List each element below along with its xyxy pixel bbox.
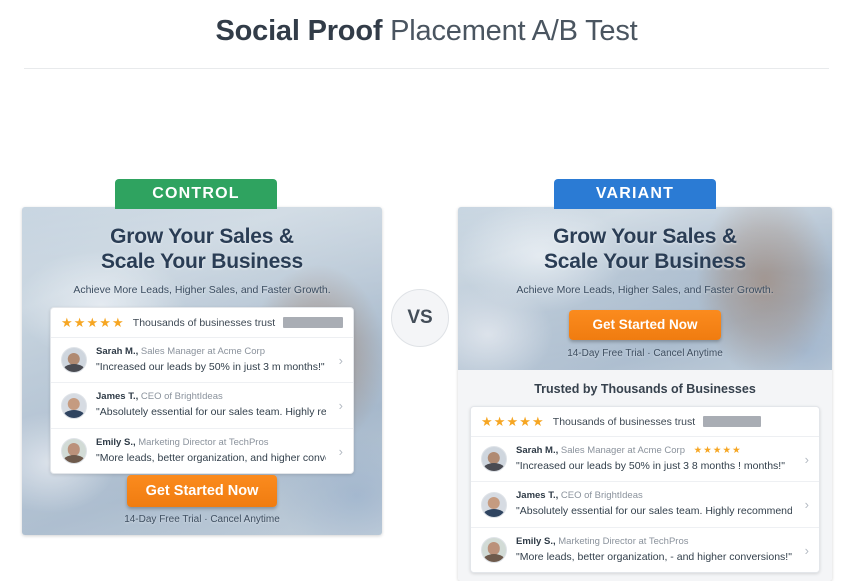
control-social-proof-header: ★★★★★ Thousands of businesses trust: [51, 308, 353, 338]
testimonial-name: James T.,: [516, 490, 558, 501]
chevron-right-icon[interactable]: ›: [335, 399, 343, 412]
testimonial-name: Sarah M.,: [516, 445, 558, 456]
variant-social-proof-section: Trusted by Thousands of Businesses ★★★★★…: [458, 370, 832, 581]
testimonial-quote: "More leads, better organization, and hi…: [96, 452, 326, 466]
testimonial-role: Sales Manager at Acme Corp: [561, 445, 685, 456]
chevron-right-icon[interactable]: ›: [801, 453, 809, 466]
table-row[interactable]: Emily S., Marketing Director at TechPros…: [471, 528, 819, 572]
redacted-brand-bar: [703, 416, 761, 427]
control-subheadline: Achieve More Leads, Higher Sales, and Fa…: [22, 284, 382, 296]
table-row[interactable]: James T., CEO of BrightIdeas "Absolutely…: [51, 383, 353, 428]
control-headline-line1: Grow Your Sales &: [22, 225, 382, 250]
table-row[interactable]: Sarah M., Sales Manager at Acme Corp "In…: [51, 338, 353, 383]
variant-headline: Grow Your Sales & Scale Your Business: [458, 225, 832, 274]
control-headline: Grow Your Sales & Scale Your Business: [22, 225, 382, 274]
testimonial-meta: Sarah M., Sales Manager at Acme Corp ★★★…: [516, 445, 792, 458]
control-hero-text: Grow Your Sales & Scale Your Business Ac…: [22, 225, 382, 296]
testimonial-role: CEO of BrightIdeas: [561, 490, 643, 501]
testimonial-body: Emily S., Marketing Director at TechPros…: [516, 536, 792, 564]
control-panel: Grow Your Sales & Scale Your Business Ac…: [22, 207, 382, 535]
testimonial-quote: "Increased our leads by 50% in just 3 m …: [96, 361, 326, 375]
testimonial-body: Sarah M., Sales Manager at Acme Corp ★★★…: [516, 445, 792, 473]
avatar: [61, 347, 87, 373]
chevron-right-icon[interactable]: ›: [801, 544, 809, 557]
avatar: [481, 492, 507, 518]
variant-hero-text: Grow Your Sales & Scale Your Business Ac…: [458, 225, 832, 359]
control-trust-text: Thousands of businesses trust: [133, 317, 275, 329]
testimonial-role: Marketing Director at TechPros: [138, 437, 268, 448]
badge-control: CONTROL: [115, 179, 277, 209]
page-title-light: Placement A/B Test: [382, 15, 637, 47]
testimonial-meta: James T., CEO of BrightIdeas: [516, 490, 792, 503]
testimonial-meta: Emily S., Marketing Director at TechPros: [516, 536, 792, 549]
variant-social-proof-title: Trusted by Thousands of Businesses: [470, 382, 820, 396]
comparison-stage: CONTROL VARIANT Grow Your Sales & Scale …: [0, 69, 853, 479]
chevron-right-icon[interactable]: ›: [335, 354, 343, 367]
versus-badge: VS: [391, 289, 449, 347]
testimonial-role: CEO of BrightIdeas: [141, 391, 223, 402]
testimonial-quote: "Absolutely essential for our sales team…: [516, 505, 792, 519]
testimonial-meta: James T., CEO of BrightIdeas: [96, 391, 326, 404]
testimonial-body: Sarah M., Sales Manager at Acme Corp "In…: [96, 346, 326, 374]
testimonial-body: James T., CEO of BrightIdeas "Absolutely…: [96, 391, 326, 419]
redacted-brand-bar: [283, 317, 343, 328]
testimonial-quote: "Absolutely essential for our sales team…: [96, 406, 326, 420]
testimonial-name: Emily S.,: [96, 437, 136, 448]
get-started-button[interactable]: Get Started Now: [569, 310, 721, 340]
variant-headline-line2: Scale Your Business: [458, 250, 832, 275]
variant-panel: Grow Your Sales & Scale Your Business Ac…: [458, 207, 832, 581]
control-trial-note: 14-Day Free Trial · Cancel Anytime: [22, 514, 382, 525]
testimonial-name: James T.,: [96, 391, 138, 402]
variant-trust-text: Thousands of businesses trust: [553, 416, 695, 428]
testimonial-meta: Sarah M., Sales Manager at Acme Corp: [96, 346, 326, 359]
variant-cta-area: Get Started Now 14-Day Free Trial · Canc…: [458, 310, 832, 359]
avatar: [61, 393, 87, 419]
table-row[interactable]: Emily S., Marketing Director at TechPros…: [51, 429, 353, 473]
testimonial-role: Sales Manager at Acme Corp: [141, 346, 265, 357]
testimonial-role: Marketing Director at TechPros: [558, 536, 688, 547]
testimonial-quote: "More leads, better organization, - and …: [516, 551, 792, 565]
avatar: [61, 438, 87, 464]
testimonial-name: Emily S.,: [516, 536, 556, 547]
testimonial-name: Sarah M.,: [96, 346, 138, 357]
testimonial-body: Emily S., Marketing Director at TechPros…: [96, 437, 326, 465]
testimonial-meta: Emily S., Marketing Director at TechPros: [96, 437, 326, 450]
avatar: [481, 446, 507, 472]
page-title: Social Proof Placement A/B Test: [0, 0, 853, 46]
badge-variant: VARIANT: [554, 179, 716, 209]
chevron-right-icon[interactable]: ›: [801, 498, 809, 511]
variant-hero: Grow Your Sales & Scale Your Business Ac…: [458, 207, 832, 370]
avatar: [481, 537, 507, 563]
get-started-button[interactable]: Get Started Now: [127, 475, 277, 507]
variant-headline-line1: Grow Your Sales &: [458, 225, 832, 250]
star-rating-icon: ★★★★★: [61, 316, 125, 329]
variant-social-proof-card: ★★★★★ Thousands of businesses trust Sara…: [470, 406, 820, 573]
control-cta-area: Get Started Now 14-Day Free Trial · Canc…: [22, 475, 382, 525]
page-title-strong: Social Proof: [215, 15, 382, 47]
variant-trial-note: 14-Day Free Trial · Cancel Anytime: [458, 348, 832, 359]
testimonial-body: James T., CEO of BrightIdeas "Absolutely…: [516, 490, 792, 518]
star-rating-icon: ★★★★★: [481, 415, 545, 428]
control-social-proof-card: ★★★★★ Thousands of businesses trust Sara…: [50, 307, 354, 474]
chevron-right-icon[interactable]: ›: [335, 445, 343, 458]
variant-subheadline: Achieve More Leads, Higher Sales, and Fa…: [458, 284, 832, 296]
table-row[interactable]: James T., CEO of BrightIdeas "Absolutely…: [471, 482, 819, 527]
control-headline-line2: Scale Your Business: [22, 250, 382, 275]
table-row[interactable]: Sarah M., Sales Manager at Acme Corp ★★★…: [471, 437, 819, 482]
variant-social-proof-header: ★★★★★ Thousands of businesses trust: [471, 407, 819, 437]
inline-star-rating-icon: ★★★★★: [694, 445, 742, 456]
testimonial-quote: "Increased our leads by 50% in just 3 8 …: [516, 460, 792, 474]
